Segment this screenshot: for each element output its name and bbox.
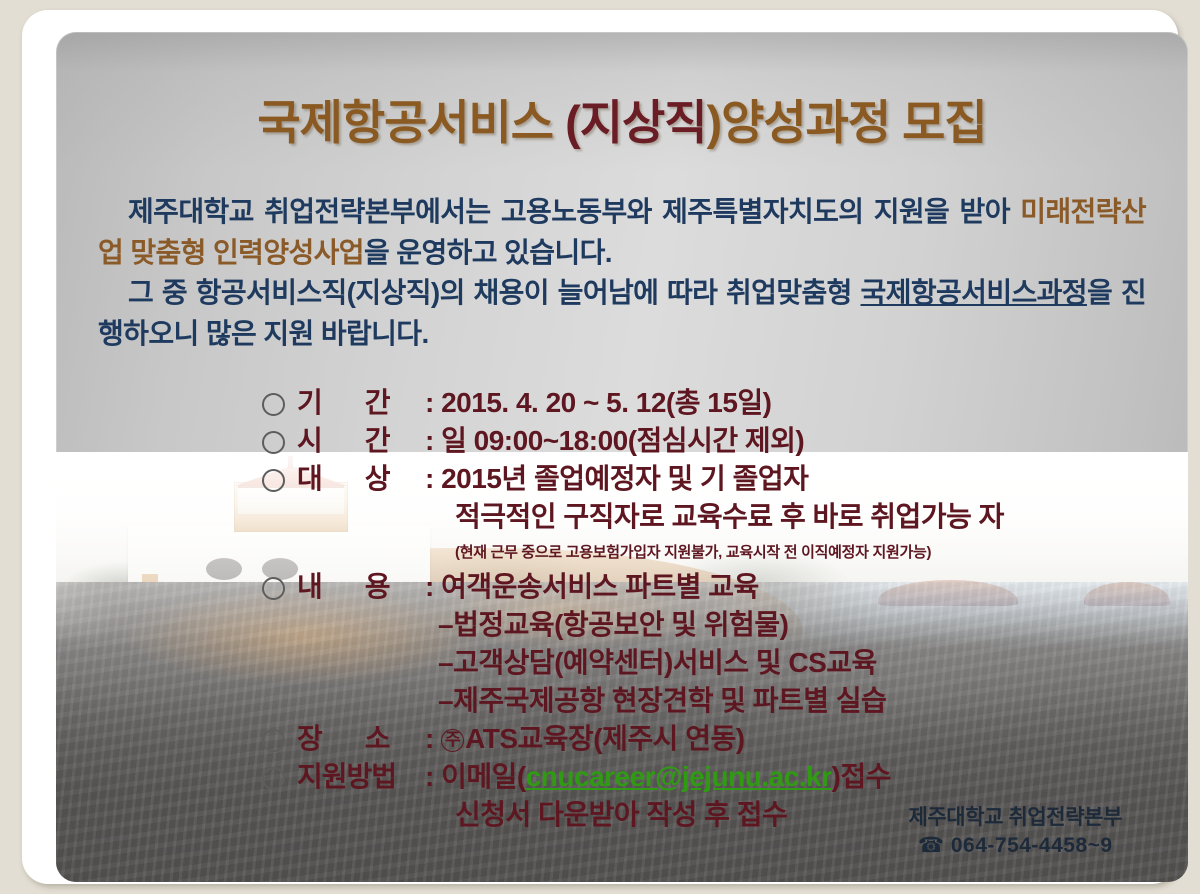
label-location-char1: 장 xyxy=(297,723,323,754)
value-target-note: (현재 근무 중으로 고용보험가입자 지원불가, 교육시작 전 이직예정자 지원… xyxy=(455,542,1162,564)
intro-line-2: 그 중 항공서비스직(지상직)의 채용이 늘어남에 따라 취업맞춤형 국제항공서… xyxy=(98,273,1146,354)
label-period-char1: 기 xyxy=(297,387,323,418)
title-part-2: (지상직 xyxy=(565,96,706,149)
value-location: : 주ATS교육장(제주시 연동) xyxy=(425,720,1162,758)
label-period: 기간 xyxy=(297,384,425,422)
label-location-char2: 소 xyxy=(365,723,391,754)
label-apply: 지원방법 xyxy=(297,758,425,796)
value-period: : 2015. 4. 20 ~ 5. 12(총 15일) xyxy=(425,384,1162,422)
value-target: : 2015년 졸업예정자 및 기 졸업자 xyxy=(425,460,1162,498)
footer-contact: 제주대학교 취업전략본부 ☎ 064-754-4458~9 xyxy=(908,804,1122,860)
label-target: 대상 xyxy=(297,460,425,498)
title-part-3: )양성과정 모집 xyxy=(706,96,986,149)
intro-line-1: 제주대학교 취업전략본부에서는 고용노동부와 제주특별자치도의 지원을 받아 미… xyxy=(98,192,1146,273)
value-content: : 여객운송서비스 파트별 교육 xyxy=(425,568,1162,606)
label-content: 내용 xyxy=(297,568,425,606)
gray-panel: 국제항공서비스 (지상직)양성과정 모집 제주대학교 취업전략본부에서는 고용노… xyxy=(56,32,1188,882)
list-item-time: 시간 : 일 09:00~18:00(점심시간 제외) xyxy=(262,422,1162,460)
value-time: : 일 09:00~18:00(점심시간 제외) xyxy=(425,422,1162,460)
footer-phone-line: ☎ 064-754-4458~9 xyxy=(908,832,1122,860)
label-location: 장소 xyxy=(297,720,425,758)
value-apply: : 이메일(cnucareer@jejunu.ac.kr)접수 xyxy=(425,758,1162,796)
intro-1c: 을 운영하고 있습니다. xyxy=(364,237,612,268)
footer-org: 제주대학교 취업전략본부 xyxy=(908,804,1122,832)
circle-bullet-icon xyxy=(262,469,285,492)
list-item-location: 장소 : 주ATS교육장(제주시 연동) xyxy=(262,720,1162,758)
value-target-text: 2015년 졸업예정자 및 기 졸업자 xyxy=(441,463,808,494)
intro-paragraph: 제주대학교 취업전략본부에서는 고용노동부와 제주특별자치도의 지원을 받아 미… xyxy=(98,192,1146,354)
list-item-period: 기간 : 2015. 4. 20 ~ 5. 12(총 15일) xyxy=(262,384,1162,422)
value-target-subline: 적극적인 구직자로 교육수료 후 바로 취업가능 자 xyxy=(455,498,1162,536)
content-dash-2: –고객상담(예약센터)서비스 및 CS교육 xyxy=(438,644,1162,682)
label-period-char2: 간 xyxy=(365,387,391,418)
telephone-icon: ☎ xyxy=(918,834,945,857)
footer-phone-number: 064-754-4458~9 xyxy=(951,834,1113,857)
list-item-target: 대상 : 2015년 졸업예정자 및 기 졸업자 xyxy=(262,460,1162,498)
intro-2b-underlined: 국제항공서비스과정 xyxy=(861,277,1087,308)
label-target-char2: 상 xyxy=(365,463,391,494)
circle-bullet-icon xyxy=(262,729,285,752)
page-title: 국제항공서비스 (지상직)양성과정 모집 xyxy=(56,84,1188,153)
circle-bullet-icon xyxy=(262,431,285,454)
value-period-text: 2015. 4. 20 ~ 5. 12(총 15일) xyxy=(441,387,771,418)
circle-bullet-icon xyxy=(262,767,285,790)
label-time-char1: 시 xyxy=(297,425,323,456)
label-time: 시간 xyxy=(297,422,425,460)
content-dash-1: –법정교육(항공보안 및 위험물) xyxy=(438,606,1162,644)
circle-bullet-icon xyxy=(262,577,285,600)
intro-2a: 그 중 항공서비스직(지상직)의 채용이 늘어남에 따라 취업맞춤형 xyxy=(128,277,861,308)
label-content-char1: 내 xyxy=(297,571,323,602)
email-link[interactable]: cnucareer@jejunu.ac.kr xyxy=(526,761,832,792)
value-location-text: ATS교육장(제주시 연동) xyxy=(465,723,744,754)
value-content-text: 여객운송서비스 파트별 교육 xyxy=(441,571,759,602)
value-apply-suffix: )접수 xyxy=(832,761,891,792)
list-item-apply: 지원방법 : 이메일(cnucareer@jejunu.ac.kr)접수 xyxy=(262,758,1162,796)
poster-root: 국제항공서비스 (지상직)양성과정 모집 제주대학교 취업전략본부에서는 고용노… xyxy=(0,0,1200,894)
intro-1a: 제주대학교 취업전략본부에서는 고용노동부와 제주특별자치도의 지원을 받아 xyxy=(128,196,1020,227)
content-dash-3: –제주국제공항 현장견학 및 파트별 실습 xyxy=(438,682,1162,720)
circled-ju-icon: 주 xyxy=(441,729,464,752)
list-item-content: 내용 : 여객운송서비스 파트별 교육 xyxy=(262,568,1162,606)
label-target-char1: 대 xyxy=(297,463,323,494)
label-content-char2: 용 xyxy=(365,571,391,602)
label-time-char2: 간 xyxy=(365,425,391,456)
circle-bullet-icon xyxy=(262,393,285,416)
value-apply-prefix: 이메일( xyxy=(441,761,526,792)
title-part-1: 국제항공서비스 xyxy=(257,96,565,149)
value-time-text: 일 09:00~18:00(점심시간 제외) xyxy=(441,425,804,456)
white-frame: 국제항공서비스 (지상직)양성과정 모집 제주대학교 취업전략본부에서는 고용노… xyxy=(22,10,1178,884)
details-list: 기간 : 2015. 4. 20 ~ 5. 12(총 15일) 시간 : 일 0… xyxy=(262,384,1162,834)
poster-content: 국제항공서비스 (지상직)양성과정 모집 제주대학교 취업전략본부에서는 고용노… xyxy=(56,32,1188,882)
